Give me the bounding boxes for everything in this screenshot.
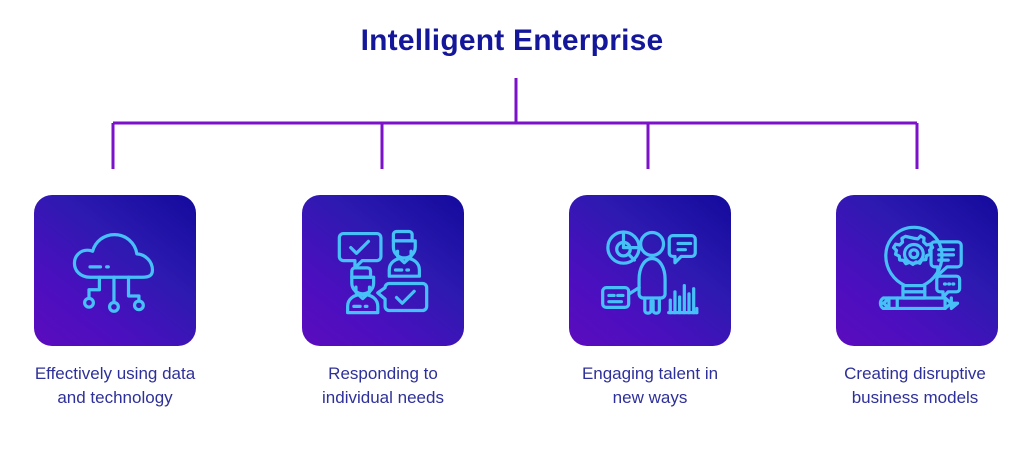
cloud-network-icon (63, 219, 167, 323)
caption-business-models: Creating disruptive business models (800, 362, 1024, 410)
caption-line-1: Responding to (328, 364, 438, 383)
caption-individual-needs: Responding to individual needs (268, 362, 498, 410)
tile-data-technology[interactable] (34, 195, 196, 346)
tile-row (0, 195, 1024, 346)
page-title: Intelligent Enterprise (0, 24, 1024, 57)
tile-business-models[interactable] (836, 195, 998, 346)
caption-data-technology: Effectively using data and technology (0, 362, 230, 410)
people-chat-check-icon (331, 219, 435, 323)
caption-row: Effectively using data and technology Re… (0, 362, 1024, 424)
caption-line-2: and technology (0, 386, 230, 410)
caption-line-2: business models (800, 386, 1024, 410)
caption-line-2: individual needs (268, 386, 498, 410)
caption-engaging-talent: Engaging talent in new ways (535, 362, 765, 410)
caption-line-2: new ways (535, 386, 765, 410)
caption-line-1: Effectively using data (35, 364, 195, 383)
tile-individual-needs[interactable] (302, 195, 464, 346)
infographic-canvas: Intelligent Enterprise (0, 0, 1024, 452)
person-analytics-icon (598, 219, 702, 323)
tile-engaging-talent[interactable] (569, 195, 731, 346)
lightbulb-gear-pencil-icon (865, 219, 969, 323)
caption-line-1: Engaging talent in (582, 364, 718, 383)
caption-line-1: Creating disruptive (844, 364, 986, 383)
